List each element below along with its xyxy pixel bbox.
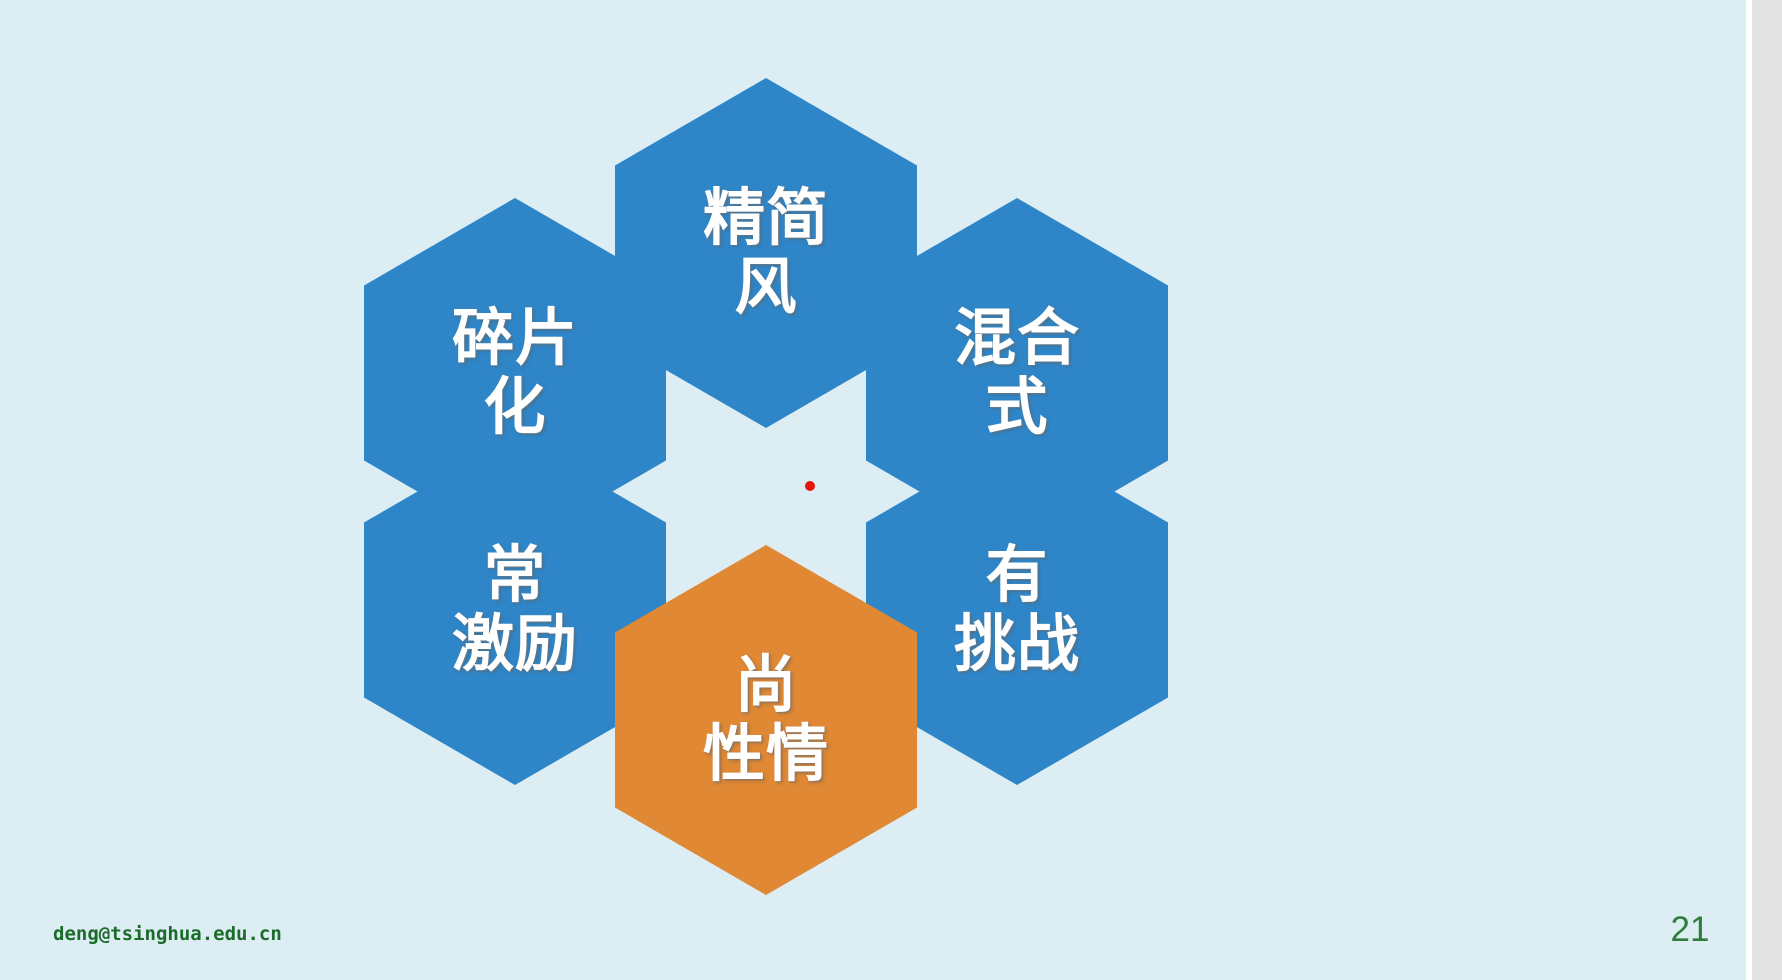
hexagon-label-line1: 碎片 (452, 304, 578, 373)
hexagon-label-line2: 化 (483, 373, 546, 442)
laser-pointer-dot (805, 481, 815, 491)
hexagon-label-line2: 激励 (452, 610, 578, 679)
hexagon-label-line1: 尚 (734, 651, 797, 720)
hexagon-label-line2: 风 (734, 253, 797, 322)
hexagon-label-line1: 混合 (954, 304, 1080, 373)
vertical-scrollbar[interactable] (1752, 0, 1782, 980)
footer-email: deng@tsinghua.edu.cn (53, 923, 282, 945)
hexagon-diagram: 精简 风 碎片 化 混合 式 常 激励 有 挑战 (0, 0, 1746, 980)
hexagon-label-line1: 有 (985, 541, 1048, 610)
hexagon-label-line1: 常 (483, 541, 546, 610)
page-number: 21 (1660, 910, 1720, 950)
hexagon-label-line2: 挑战 (954, 610, 1080, 679)
slide-canvas: 精简 风 碎片 化 混合 式 常 激励 有 挑战 (0, 0, 1746, 980)
hexagon-label-line1: 精简 (703, 184, 829, 253)
hexagon-label-line2: 式 (985, 373, 1048, 442)
slide-viewer: 精简 风 碎片 化 混合 式 常 激励 有 挑战 (0, 0, 1782, 980)
hexagon-label-line2: 性情 (703, 720, 829, 789)
